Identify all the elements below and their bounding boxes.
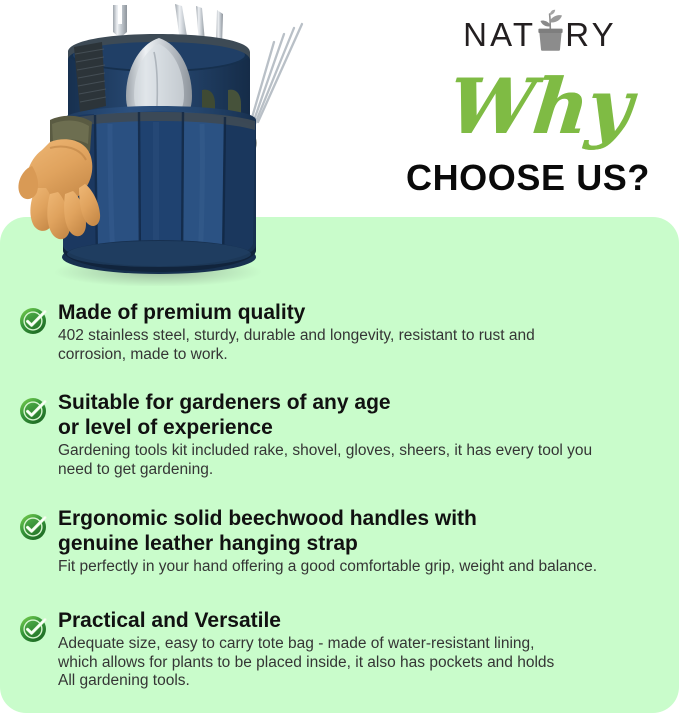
brand-text-after: RY [565, 18, 617, 51]
headline-script-word: Why [404, 58, 676, 156]
green-check-circle-icon [19, 512, 49, 547]
check-cell [12, 608, 56, 649]
feature-title: Practical and Versatile [58, 608, 672, 633]
feature-item: Suitable for gardeners of any age or lev… [12, 390, 672, 479]
check-cell [12, 300, 56, 341]
feature-text: Suitable for gardeners of any age or lev… [56, 390, 672, 479]
green-check-circle-icon [19, 306, 49, 341]
feature-description: Fit perfectly in your hand offering a go… [58, 558, 672, 577]
feature-item: Ergonomic solid beechwood handles with g… [12, 506, 672, 577]
choose-us-text: CHOOSE US? [406, 160, 650, 196]
product-image [6, 2, 306, 286]
feature-item: Made of premium quality 402 stainless st… [12, 300, 672, 364]
sprout-in-pot-icon [537, 9, 564, 51]
feature-text: Ergonomic solid beechwood handles with g… [56, 506, 672, 577]
feature-item: Practical and Versatile Adequate size, e… [12, 608, 672, 691]
feature-title: Made of premium quality [58, 300, 672, 325]
feature-description: 402 stainless steel, sturdy, durable and… [58, 327, 672, 364]
feature-text: Practical and Versatile Adequate size, e… [56, 608, 672, 691]
feature-title: Ergonomic solid beechwood handles with g… [58, 506, 672, 556]
infographic-page: NAT RY Why [0, 0, 679, 713]
feature-text: Made of premium quality 402 stainless st… [56, 300, 672, 364]
why-text: Why [445, 69, 635, 145]
green-check-circle-icon [19, 614, 49, 649]
check-cell [12, 390, 56, 431]
check-cell [12, 506, 56, 547]
feature-description: Adequate size, easy to carry tote bag - … [58, 635, 672, 691]
feature-title: Suitable for gardeners of any age or lev… [58, 390, 672, 440]
brand-logo: NAT RY [404, 6, 676, 54]
feature-description: Gardening tools kit included rake, shove… [58, 442, 672, 479]
headline-bold-line: CHOOSE US? [380, 156, 676, 200]
green-check-circle-icon [19, 396, 49, 431]
brand-text-before: NAT [463, 18, 536, 51]
brand-wordmark: NAT RY [463, 9, 617, 51]
